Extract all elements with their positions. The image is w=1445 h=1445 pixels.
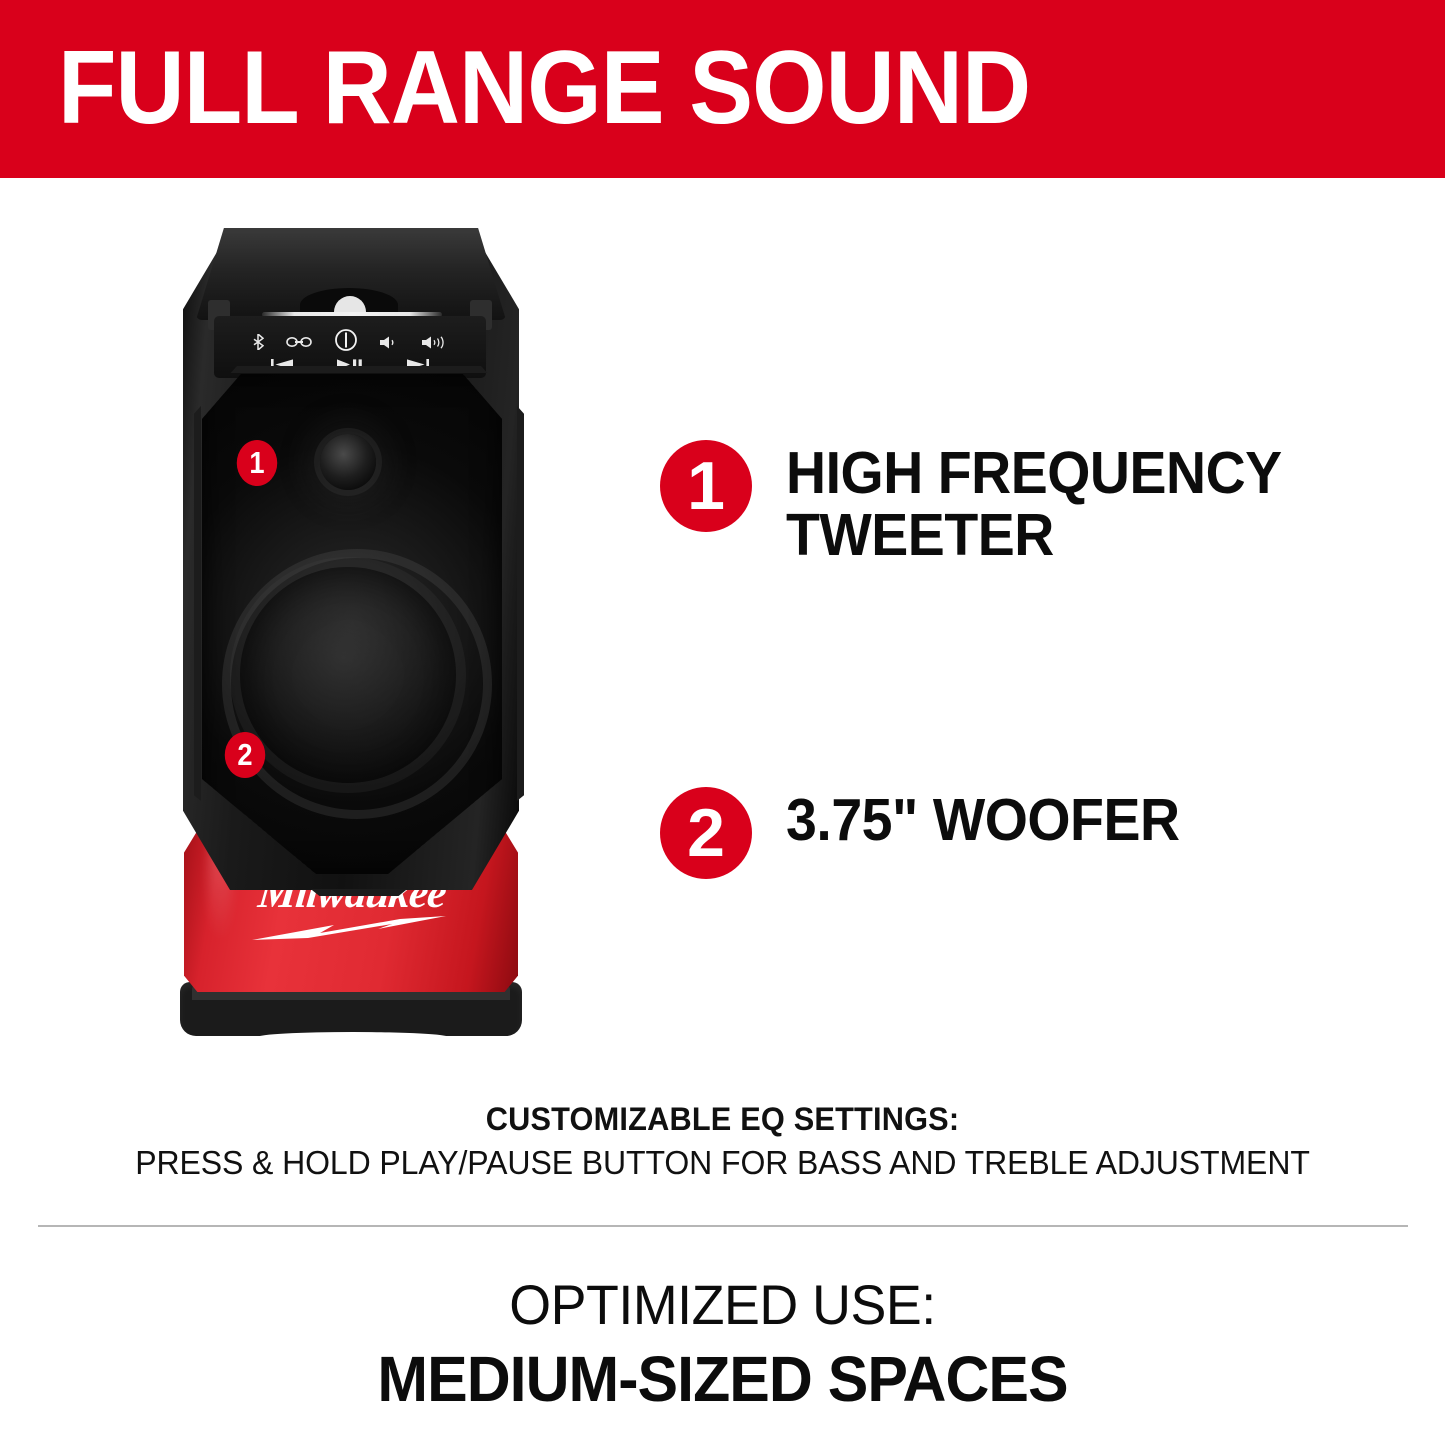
optimized-use-value: MEDIUM-SIZED SPACES (36, 1342, 1409, 1416)
tweeter-driver (320, 434, 376, 490)
lightning-bolt-icon (250, 916, 456, 942)
callout-badge-2: 2 (660, 787, 752, 879)
previous-track-icon[interactable] (271, 356, 293, 372)
callout-item-2: 2 3.75" WOOFER (660, 787, 1205, 879)
eq-note: CUSTOMIZABLE EQ SETTINGS: PRESS & HOLD P… (0, 1098, 1445, 1186)
header-banner: FULL RANGE SOUND (0, 0, 1445, 178)
callout-item-1: 1 HIGH FREQUENCY TWEETER (660, 440, 1313, 566)
callout-label-1: HIGH FREQUENCY TWEETER (786, 442, 1282, 566)
woofer-driver (240, 567, 456, 783)
control-panel[interactable] (214, 316, 486, 378)
callout-badge-1: 1 (660, 440, 752, 532)
volume-up-icon[interactable] (422, 334, 448, 350)
next-track-icon[interactable] (407, 356, 429, 372)
control-row-transport (214, 356, 486, 372)
control-row-primary (214, 334, 486, 350)
volume-down-icon[interactable] (380, 334, 400, 350)
product-marker-2: 2 (225, 732, 265, 778)
power-icon[interactable] (334, 332, 358, 348)
infographic-page: FULL RANGE SOUND Milwaukee (0, 0, 1445, 1445)
optimized-use-section: OPTIMIZED USE: MEDIUM-SIZED SPACES (0, 1272, 1445, 1416)
link-pair-icon[interactable] (286, 334, 312, 350)
callout-label-2: 3.75" WOOFER (786, 789, 1180, 851)
product-marker-1: 1 (237, 440, 277, 486)
section-divider (38, 1225, 1408, 1227)
bluetooth-icon[interactable] (253, 334, 264, 350)
eq-note-body: PRESS & HOLD PLAY/PAUSE BUTTON FOR BASS … (22, 1140, 1424, 1186)
optimized-use-label: OPTIMIZED USE: (29, 1272, 1416, 1338)
eq-note-title: CUSTOMIZABLE EQ SETTINGS: (29, 1098, 1416, 1140)
page-title: FULL RANGE SOUND (58, 36, 1030, 140)
product-image: Milwaukee (150, 222, 550, 1037)
play-pause-icon[interactable] (337, 356, 363, 372)
